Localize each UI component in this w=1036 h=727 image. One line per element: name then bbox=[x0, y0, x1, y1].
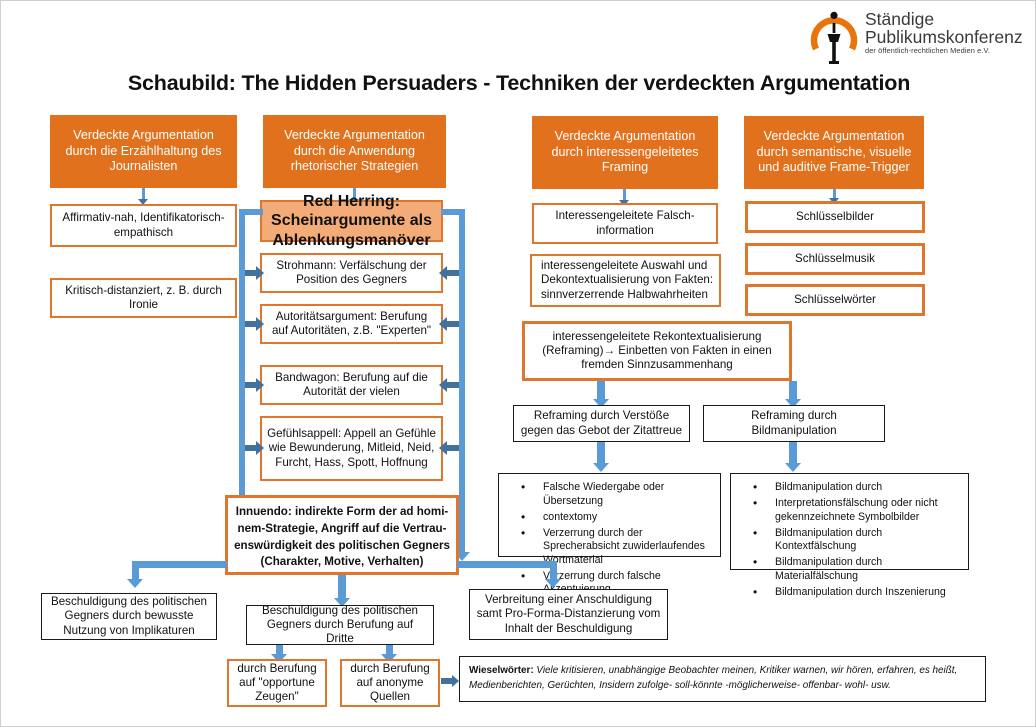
list-item: Bildmanipulation durch bbox=[775, 481, 960, 495]
box-bandwagon: Bandwagon: Berufung auf die Autorität de… bbox=[260, 365, 443, 405]
list-item: Bildmanipulation durch Kontextfälschung bbox=[775, 527, 960, 554]
arrow-right-icon bbox=[256, 378, 264, 392]
broadcast-tower-icon bbox=[807, 9, 861, 65]
box-schluesselmusik: Schlüsselmusik bbox=[745, 243, 925, 275]
box-verbreitung-anschuldigung: Verbreitung einer Anschuldigung samt Pro… bbox=[469, 589, 668, 640]
elbow-vertical-right bbox=[550, 561, 557, 580]
connector-stem bbox=[338, 575, 346, 599]
elbow-horizontal-right bbox=[457, 561, 557, 568]
box-strohmann: Strohmann: Verfälschung der Position des… bbox=[260, 253, 443, 293]
connector-stem bbox=[447, 321, 459, 327]
box-berufung-dritte: Beschuldigung des politischen Gegners du… bbox=[246, 605, 434, 645]
list-bildmanipulation-types: Bildmanipulation durch Interpretationsfä… bbox=[730, 473, 969, 570]
box-schluesselbilder: Schlüsselbilder bbox=[745, 201, 925, 233]
column-header-framing: Verdeckte Argumentation durch interessen… bbox=[532, 116, 718, 189]
wieselwoerter-text: Viele kritisieren, unabhängige Beobachte… bbox=[469, 665, 957, 691]
arrow-left-icon bbox=[439, 378, 447, 392]
box-anonyme-quellen: durch Berufung auf anonyme Quellen bbox=[340, 659, 440, 707]
box-reframing-bildmanipulation: Reframing durch Bildmanipulation bbox=[703, 405, 885, 442]
arrow-left-icon bbox=[439, 317, 447, 331]
connector-stem bbox=[597, 442, 605, 464]
connector-stem bbox=[789, 381, 797, 400]
box-wieselwoerter: Wieselwörter: Viele kritisieren, unabhän… bbox=[459, 656, 986, 702]
list-item: Bildmanipulation durch Inszenierung bbox=[775, 586, 960, 600]
list-item: Bildmanipulation durch Materialfälschung bbox=[775, 556, 960, 583]
connector-stem bbox=[597, 381, 605, 400]
innuendo-line-2: nem-Strategie, Angriff auf die Vertrau- bbox=[233, 521, 451, 538]
arrow-right-icon bbox=[452, 675, 459, 687]
arrow-left-icon bbox=[439, 266, 447, 280]
box-autoritaetsargument: Autoritätsargument: Berufung auf Autorit… bbox=[260, 304, 443, 344]
connector-stem bbox=[447, 445, 459, 451]
arrow-down-icon bbox=[785, 463, 801, 472]
box-red-herring: Red Herring: Scheinargumente als Ablenku… bbox=[260, 200, 443, 242]
box-affirmativ-nah: Affirmativ-nah, Identifikatorisch-empath… bbox=[50, 204, 237, 247]
column-header-journalist: Verdeckte Argumentation durch die Erzähl… bbox=[50, 115, 237, 188]
box-falschinformation: Interessengeleitete Falsch-information bbox=[532, 203, 718, 244]
innuendo-line-1: Innuendo: indirekte Form der ad homi- bbox=[233, 504, 451, 521]
list-item: Interpretationsfälschung oder nicht geke… bbox=[775, 497, 960, 524]
connector-stem bbox=[447, 382, 459, 388]
bullet-list: Falsche Wiedergabe oder Übersetzung cont… bbox=[503, 481, 712, 597]
bullet-list: Bildmanipulation durch Interpretationsfä… bbox=[735, 481, 960, 599]
box-kritisch-distanziert: Kritisch-distanziert, z. B. durch Ironie bbox=[50, 278, 237, 318]
innuendo-line-3: enswürdigkeit des politischen Gegners bbox=[233, 538, 451, 555]
arrow-down-icon bbox=[545, 579, 561, 588]
box-implikaturen: Beschuldigung des politischen Gegners du… bbox=[41, 593, 217, 640]
innuendo-line-4: (Charakter, Motive, Verhalten) bbox=[233, 554, 451, 571]
logo-line-3: der öffentlich-rechtlichen Medien e.V. bbox=[865, 47, 1023, 55]
box-reframing-zitattreue: Reframing durch Verstöße gegen das Gebot… bbox=[513, 405, 690, 442]
arrow-down-icon bbox=[593, 463, 609, 472]
wieselwoerter-label: Wieselwörter: bbox=[469, 665, 534, 676]
diagram-canvas: Ständige Publikumskonferenz der öffentli… bbox=[0, 0, 1036, 727]
arrow-right-icon bbox=[256, 266, 264, 280]
box-innuendo: Innuendo: indirekte Form der ad homi- ne… bbox=[225, 495, 459, 575]
box-rekontextualisierung: interessengeleitete Rekontextualisierung… bbox=[522, 321, 792, 381]
elbow-horizontal-left bbox=[132, 561, 227, 568]
connector-stem bbox=[447, 270, 459, 276]
rail-vertical-right bbox=[459, 209, 465, 554]
column-header-rhetorik: Verdeckte Argumentation durch die Anwend… bbox=[263, 115, 446, 188]
organization-logo: Ständige Publikumskonferenz der öffentli… bbox=[807, 9, 1033, 67]
column-header-frame-trigger: Verdeckte Argumentation durch semantisch… bbox=[744, 116, 924, 189]
elbow-vertical-left bbox=[132, 561, 139, 580]
list-zitattreue-violations: Falsche Wiedergabe oder Übersetzung cont… bbox=[498, 473, 721, 557]
list-item: Verzerrung durch der Sprecherabsicht zuw… bbox=[543, 527, 712, 568]
connector-stem bbox=[789, 442, 797, 464]
box-dekontextualisierung: interessengeleitete Auswahl und Dekontex… bbox=[530, 254, 721, 307]
arrow-right-icon bbox=[256, 317, 264, 331]
arrow-left-icon bbox=[439, 441, 447, 455]
page-title: Schaubild: The Hidden Persuaders - Techn… bbox=[1, 71, 1036, 96]
box-schluesselwoerter: Schlüsselwörter bbox=[745, 284, 925, 316]
arrow-right-icon bbox=[256, 441, 264, 455]
arrow-down-icon bbox=[127, 579, 143, 588]
box-gefuehlsappell: Gefühlsappell: Appell an Gefühle wie Bew… bbox=[260, 416, 443, 481]
list-item: Falsche Wiedergabe oder Übersetzung bbox=[543, 481, 712, 508]
box-opportune-zeugen: durch Berufung auf "opportune Zeugen" bbox=[227, 659, 327, 707]
logo-line-2: Publikumskonferenz bbox=[865, 29, 1023, 47]
logo-text-block: Ständige Publikumskonferenz der öffentli… bbox=[865, 11, 1023, 54]
list-item: contextomy bbox=[543, 511, 712, 525]
